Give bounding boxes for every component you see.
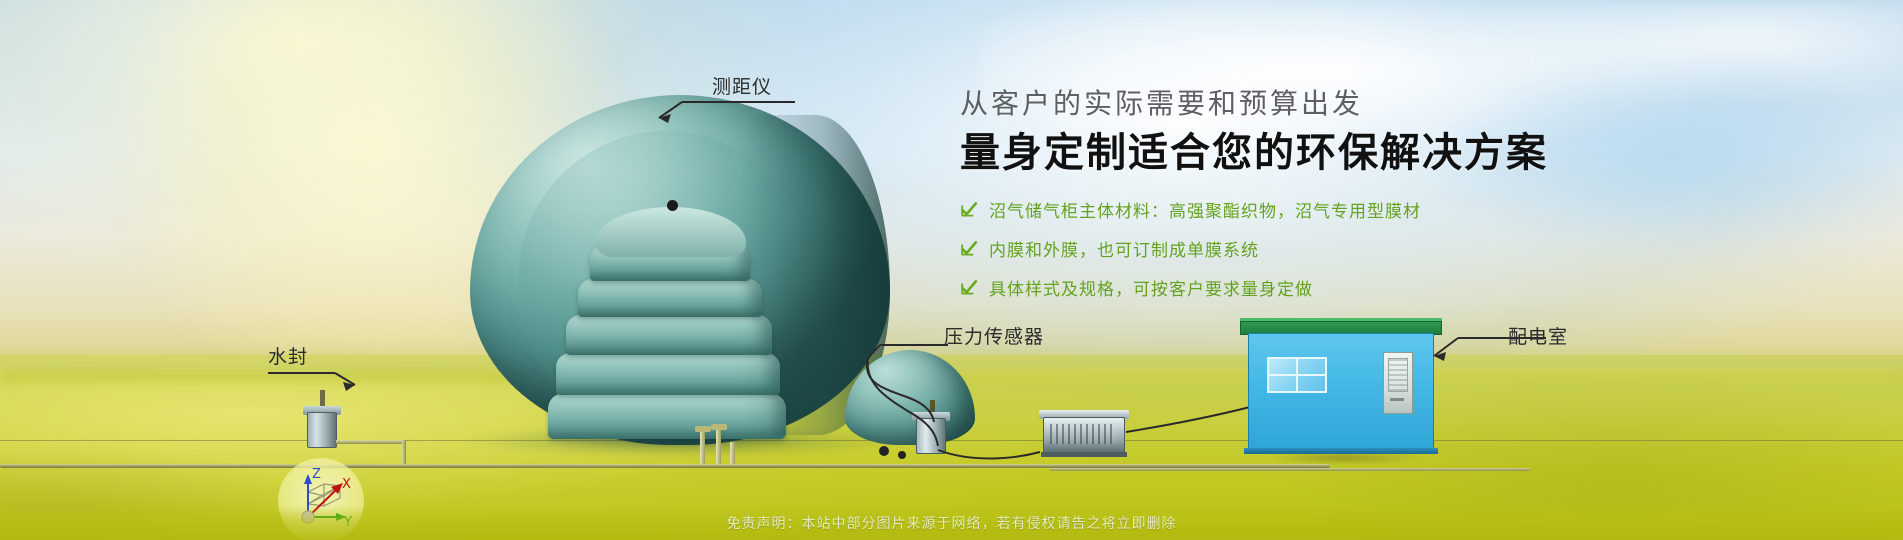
footer-disclaimer-text: 免责声明：本站中部分图片来源于网络，若有侵权请告之将立即删除: [727, 513, 1177, 533]
feature-bullet-2-text: 内膜和外膜，也可订制成单膜系统: [989, 236, 1259, 261]
riser-pipe-1: [700, 430, 705, 468]
feature-bullet-1: 沼气储气柜主体材料：高强聚酯织物，沼气专用型膜材: [960, 197, 1660, 222]
riser-pipe-2: [716, 428, 721, 468]
check-icon: [960, 201, 978, 219]
water-seal-pipe-vertical: [402, 440, 406, 466]
control-room-panel-face: [1388, 358, 1408, 392]
label-power-distribution-room: 配电室: [1508, 322, 1568, 349]
axis-label-x: X: [342, 477, 351, 492]
water-seal-pipe-horizontal: [336, 440, 406, 444]
riser-cap-1: [695, 426, 711, 432]
control-room-window-mullion-horizontal: [1267, 374, 1327, 376]
control-room-base: [1244, 448, 1438, 454]
footer-disclaimer-bar: 免责声明：本站中部分图片来源于网络，若有侵权请告之将立即删除: [0, 506, 1903, 540]
feature-bullet-3: 具体样式及规格，可按客户要求量身定做: [960, 275, 1660, 300]
label-rangefinder: 测距仪: [712, 72, 772, 99]
riser-cap-2: [711, 424, 727, 430]
subheadline: 从客户的实际需要和预算出发: [960, 82, 1660, 122]
label-water-seal: 水封: [268, 342, 308, 369]
feature-bullet-3-text: 具体样式及规格，可按客户要求量身定做: [989, 275, 1313, 300]
rangefinder-sensor-dot: [667, 200, 678, 211]
check-icon: [960, 240, 978, 258]
secondary-gas-pipe: [1050, 468, 1530, 471]
water-seal-unit: [307, 412, 337, 448]
marketing-text-panel: 从客户的实际需要和预算出发 量身定制适合您的环保解决方案 沼气储气柜主体材料：高…: [960, 82, 1660, 314]
control-room-panel-knob: [1390, 398, 1404, 401]
hero-banner: 测距仪 水封 压力传感器: [0, 0, 1903, 540]
feature-bullet-1-text: 沼气储气柜主体材料：高强聚酯织物，沼气专用型膜材: [989, 197, 1421, 222]
feature-bullet-list: 沼气储气柜主体材料：高强聚酯织物，沼气专用型膜材 内膜和外膜，也可订制成单膜系统: [960, 197, 1660, 300]
headline: 量身定制适合您的环保解决方案: [960, 130, 1660, 177]
feature-bullet-2: 内膜和外膜，也可订制成单膜系统: [960, 236, 1660, 261]
gas-holder-dome: [470, 95, 890, 445]
check-icon: [960, 279, 978, 297]
dome-step-2: [578, 279, 762, 317]
axis-label-z: Z: [312, 467, 321, 482]
label-pressure-sensor: 压力传感器: [944, 322, 1044, 349]
